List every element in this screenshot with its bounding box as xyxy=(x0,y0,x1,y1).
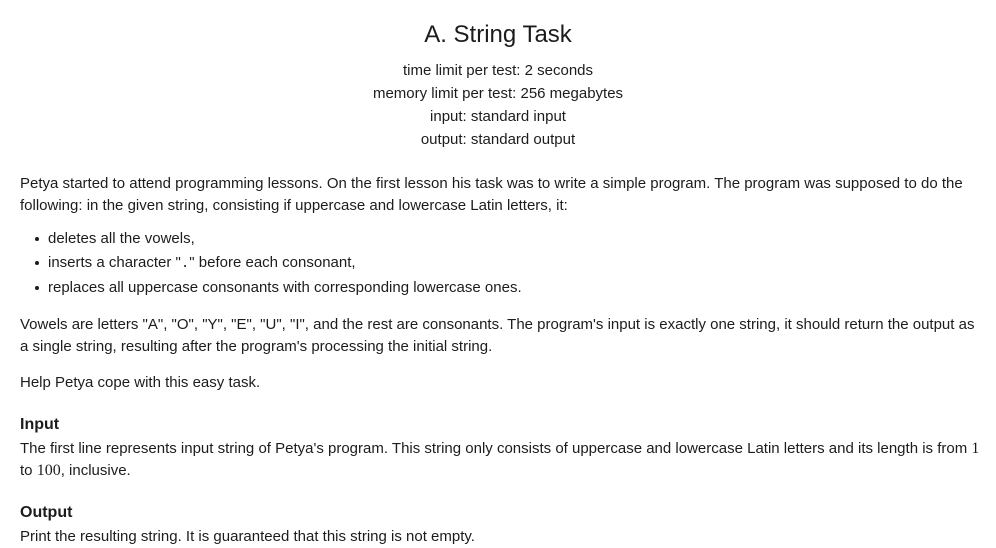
rule-text: replaces all uppercase consonants with c… xyxy=(48,279,522,296)
input-text-between: to xyxy=(20,462,37,479)
list-item: replaces all uppercase consonants with c… xyxy=(48,276,985,300)
input-text-before: The first line represents input string o… xyxy=(20,440,971,457)
input-section-title: Input xyxy=(20,394,985,436)
statement-body: Petya started to attend programming less… xyxy=(20,151,985,548)
length-max-value: 100 xyxy=(37,462,61,479)
help-note-paragraph: Help Petya cope with this easy task. xyxy=(20,358,985,394)
time-limit: time limit per test: 2 seconds xyxy=(0,59,996,82)
input-text-after: , inclusive. xyxy=(61,462,131,479)
output-source: output: standard output xyxy=(0,128,996,151)
problem-statement: A. String Task time limit per test: 2 se… xyxy=(0,0,996,548)
rules-list: deletes all the vowels, inserts a charac… xyxy=(20,227,985,300)
page-title: A. String Task xyxy=(0,20,996,50)
rule-text-tail: " before each consonant, xyxy=(189,254,355,271)
list-item: inserts a character "." before each cons… xyxy=(48,251,985,276)
list-item: deletes all the vowels, xyxy=(48,227,985,251)
vowels-note-paragraph: Vowels are letters "A", "O", "Y", "E", "… xyxy=(20,300,985,358)
output-section-paragraph: Print the resulting string. It is guaran… xyxy=(20,524,985,548)
rule-text: inserts a character " xyxy=(48,254,181,271)
problem-header: A. String Task time limit per test: 2 se… xyxy=(0,0,996,151)
input-section-paragraph: The first line represents input string o… xyxy=(20,436,985,482)
intro-paragraph: Petya started to attend programming less… xyxy=(20,151,985,217)
length-min-value: 1 xyxy=(971,440,979,457)
input-source: input: standard input xyxy=(0,105,996,128)
output-section-title: Output xyxy=(20,482,985,524)
rule-text: deletes all the vowels, xyxy=(48,230,195,247)
memory-limit: memory limit per test: 256 megabytes xyxy=(0,82,996,105)
